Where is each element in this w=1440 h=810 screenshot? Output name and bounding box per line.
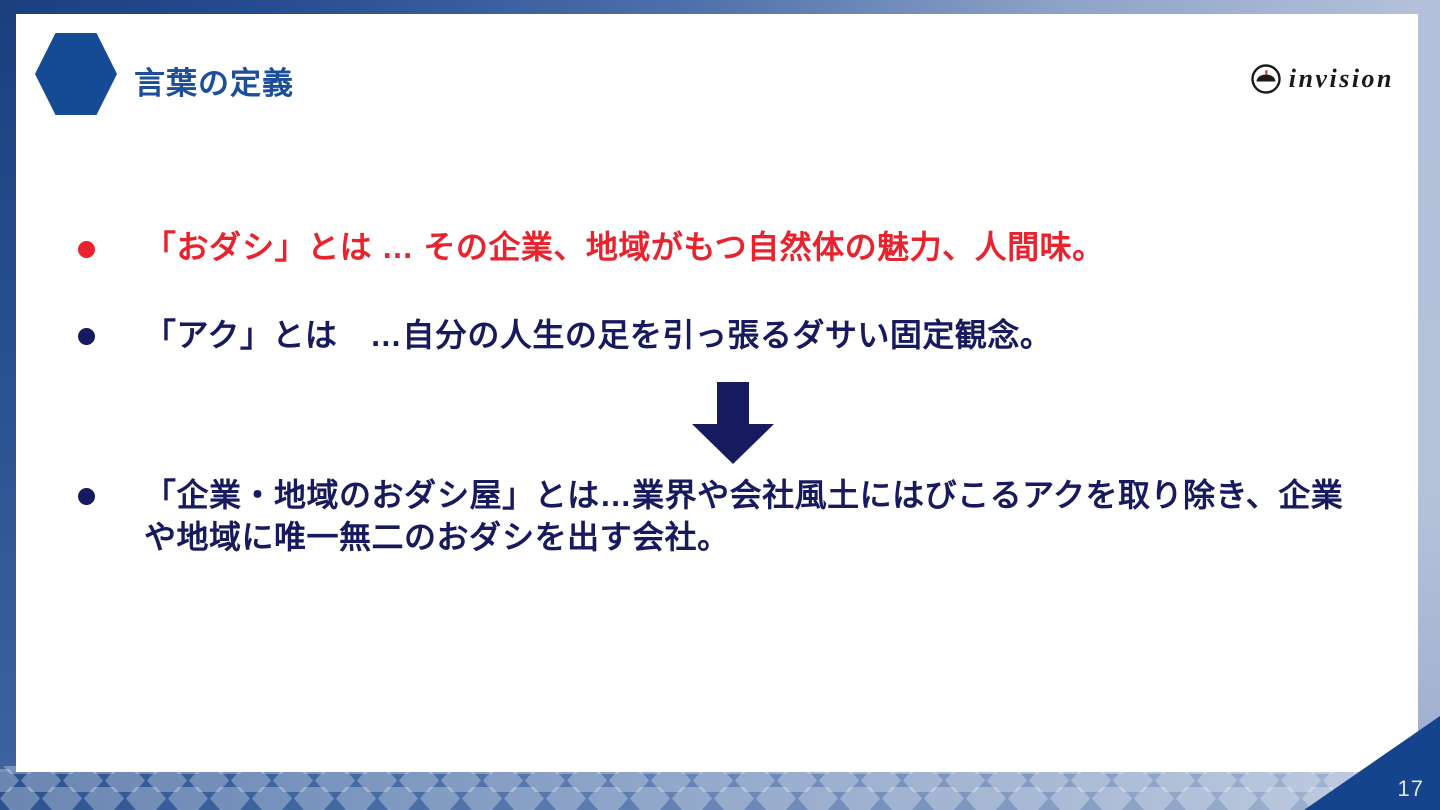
brand-name: invision xyxy=(1289,64,1394,94)
down-arrow-icon xyxy=(684,382,782,464)
bullet-item-1: 「おダシ」とは … その企業、地域がもつ自然体の魅力、人間味。 xyxy=(78,227,1105,269)
hexagon-icon xyxy=(35,33,117,115)
slide: 言葉の定義 invision 「おダシ」とは … その企業、地域がもつ自然体の魅… xyxy=(0,0,1440,810)
slide-header: 言葉の定義 invision xyxy=(16,14,1418,134)
bullet-text-3: 「企業・地域のおダシ屋」とは…業界や会社風土にはびこるアクを取り除き、企業や地域… xyxy=(144,475,1359,558)
page-title: 言葉の定義 xyxy=(134,58,294,103)
bullet-item-3: 「企業・地域のおダシ屋」とは…業界や会社風土にはびこるアクを取り除き、企業や地域… xyxy=(78,475,1378,558)
bullet-text-2: 「アク」とは …自分の人生の足を引っ張るダサい固定観念。 xyxy=(144,315,1052,357)
bullet-item-2: 「アク」とは …自分の人生の足を引っ張るダサい固定観念。 xyxy=(78,315,1052,357)
bullet-dot-icon xyxy=(78,328,95,345)
globe-circle-icon xyxy=(1251,64,1281,94)
brand-logo: invision xyxy=(1251,64,1394,94)
bullet-dot-icon xyxy=(78,488,95,505)
honeycomb-pattern xyxy=(0,766,1440,810)
bullet-text-1: 「おダシ」とは … その企業、地域がもつ自然体の魅力、人間味。 xyxy=(144,227,1105,269)
slide-top-border xyxy=(0,0,1440,14)
page-number-corner: 17 xyxy=(1304,716,1440,810)
slide-right-border xyxy=(1418,0,1440,810)
bullet-dot-icon xyxy=(78,241,95,258)
slide-content-area: 言葉の定義 invision 「おダシ」とは … その企業、地域がもつ自然体の魅… xyxy=(16,14,1418,772)
slide-left-border xyxy=(0,0,16,810)
page-number: 17 xyxy=(1398,776,1424,802)
